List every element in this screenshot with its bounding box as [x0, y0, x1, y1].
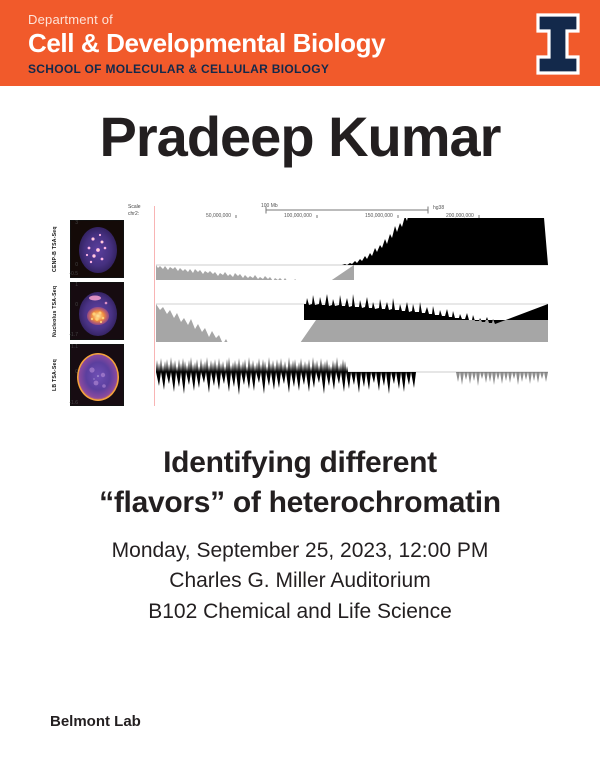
department-of-label: Department of: [28, 12, 385, 28]
event-building: B102 Chemical and Life Science: [0, 597, 600, 627]
y-tick-cenpb-zero: 0: [75, 262, 78, 268]
block-i-logo-icon: [536, 13, 580, 75]
scale-bar-label: 100 Mb: [261, 203, 278, 209]
event-venue: Charles G. Miller Auditorium: [0, 566, 600, 596]
y-tick-nucleolus-max: 1: [75, 282, 78, 288]
track-plot-lb: [156, 342, 548, 409]
y-axis-lb: 1.1 0 -1.6: [52, 342, 80, 409]
header-text-block: Department of Cell & Developmental Biolo…: [28, 12, 385, 77]
event-datetime: Monday, September 25, 2023, 12:00 PM: [0, 536, 600, 566]
department-name: Cell & Developmental Biology: [28, 29, 385, 59]
y-tick-lb-min: -1.6: [69, 400, 78, 406]
y-axis-nucleolus: 1 0 -1.7: [52, 280, 80, 342]
track-row-nucleolus: Nucleolus TSA-Seq: [52, 280, 548, 342]
genome-assembly-label: hg38: [433, 205, 444, 211]
school-name: SCHOOL OF MOLECULAR & CELLULAR BIOLOGY: [28, 62, 385, 76]
track-plot-cenpb: [156, 218, 548, 280]
y-tick-lb-max: 1.1: [71, 344, 78, 350]
y-tick-cenpb-max: 3: [75, 220, 78, 226]
header-banner: Department of Cell & Developmental Biolo…: [0, 0, 600, 86]
scale-label: Scale: [128, 204, 154, 211]
talk-title-line-1: Identifying different: [0, 443, 600, 483]
y-tick-cenpb-min: -0.5: [69, 271, 78, 277]
talk-title-line-2: “flavors” of heterochromatin: [0, 483, 600, 523]
track-row-cenpb: CENP-B TSA-Seq: [52, 218, 548, 280]
y-tick-nucleolus-min: -1.7: [69, 332, 78, 338]
y-tick-lb-zero: 0: [75, 369, 78, 375]
track-row-lb: LB TSA-Seq: [52, 342, 548, 409]
research-figure: Scale chr2: 100 Mb hg38 50,000,000 100,0…: [52, 204, 548, 409]
track-plot-nucleolus: [156, 280, 548, 342]
chromosome-label: chr2:: [128, 211, 154, 218]
scale-axis-title: Scale chr2:: [128, 204, 154, 218]
y-axis-cenpb: 3 0 -0.5: [52, 218, 80, 280]
talk-title: Identifying different “flavors” of heter…: [0, 443, 600, 523]
event-details: Monday, September 25, 2023, 12:00 PM Cha…: [0, 536, 600, 627]
y-tick-nucleolus-zero: 0: [75, 302, 78, 308]
lab-name: Belmont Lab: [50, 713, 141, 730]
speaker-name: Pradeep Kumar: [0, 104, 600, 169]
